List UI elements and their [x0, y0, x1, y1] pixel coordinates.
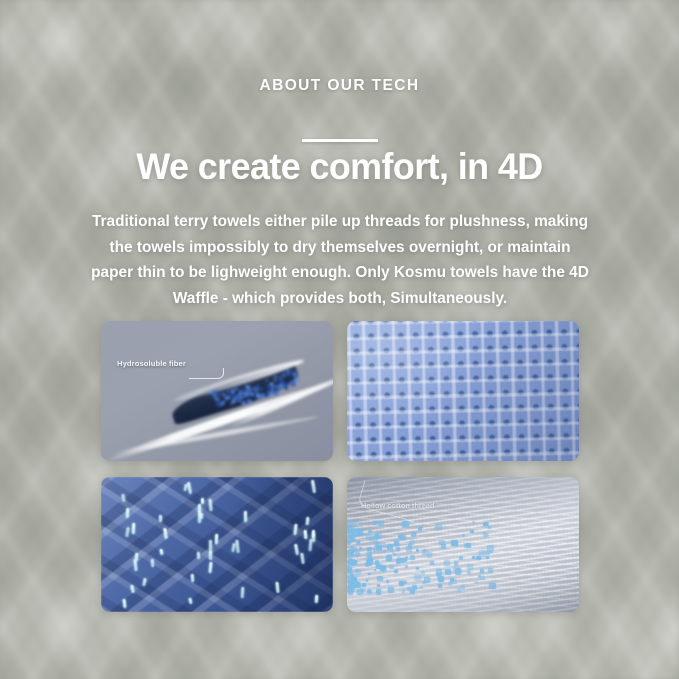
waffle-shading	[347, 321, 579, 461]
page-title: We create comfort, in 4D	[10, 146, 669, 188]
hollow-cotton-thread-caption: Hollow cotton thread	[361, 501, 435, 510]
about-our-tech-section: ABOUT OUR TECH We create comfort, in 4D …	[0, 0, 679, 679]
hydrosoluble-fiber-caption: Hydrosoluble fiber	[117, 359, 186, 368]
image-gallery: Hydrosoluble fiber Hollow cotton thread	[101, 321, 579, 613]
body-paragraph: Traditional terry towels either pile up …	[88, 209, 592, 311]
hydrosoluble-fiber-image: Hydrosoluble fiber	[101, 321, 333, 461]
caption-leader-line	[189, 368, 224, 379]
waffle-weave-image	[347, 321, 579, 461]
gallery-item-waffle-weave[interactable]	[347, 321, 579, 461]
fabric-fibers-image	[101, 477, 333, 612]
gallery-item-fabric-fibers[interactable]	[101, 477, 333, 612]
filament-layer	[101, 321, 333, 461]
gallery-item-hollow-cotton-thread[interactable]: Hollow cotton thread	[347, 477, 579, 612]
hollow-cotton-thread-image: Hollow cotton thread	[347, 477, 579, 612]
divider-rule	[302, 139, 378, 142]
eyebrow-label: ABOUT OUR TECH	[0, 77, 679, 95]
gallery-item-hydrosoluble-fiber[interactable]: Hydrosoluble fiber	[101, 321, 333, 461]
